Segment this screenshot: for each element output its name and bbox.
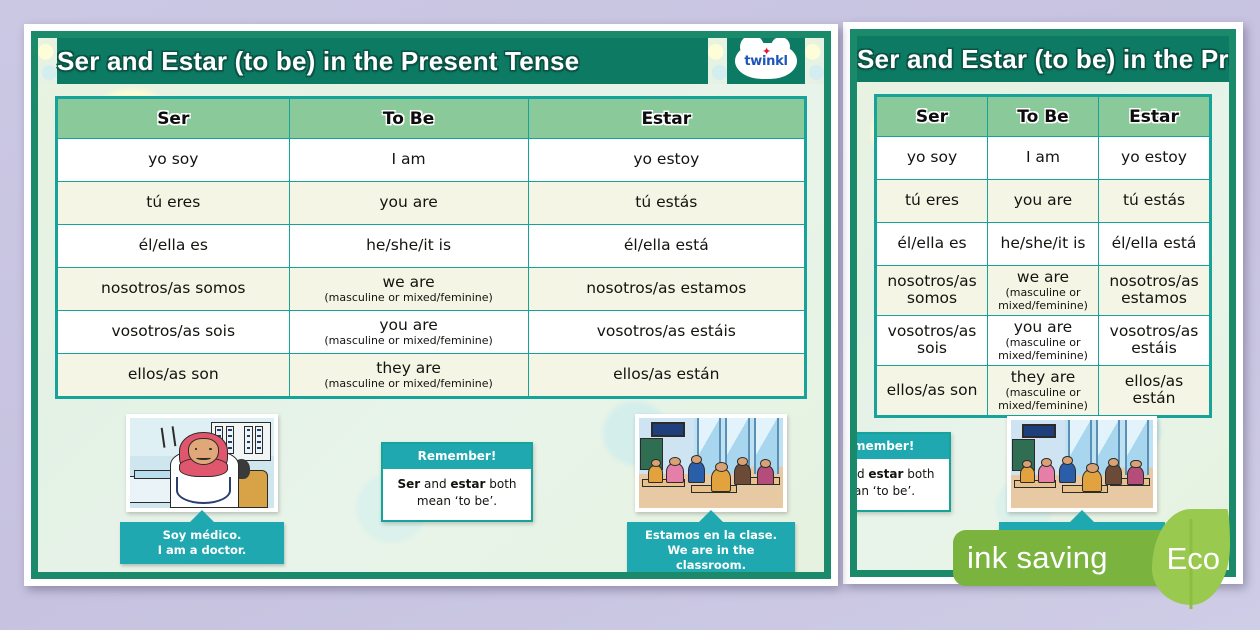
student-head (669, 457, 681, 466)
table-row: tú eres you are tú estás (58, 182, 805, 225)
student-head (760, 459, 772, 468)
conjugation-table-wrap: Ser To Be Estar yo soy I am yo estoy tú … (55, 96, 807, 399)
poster-page-back[interactable]: Ser and Estar (to be) in the Present Ten… (843, 22, 1243, 584)
cell-estar: nosotros/as estamos (528, 268, 804, 311)
remember-bold-ser: Ser (397, 477, 420, 491)
cell-tobe-main: you are (1014, 318, 1072, 336)
classroom-photo-card-back (1007, 416, 1157, 512)
cell-tobe-main: he/she/it is (366, 236, 451, 254)
cell-tobe: I am (988, 137, 1099, 180)
cell-ser: yo soy (58, 139, 290, 182)
cell-tobe: they are(masculine or mixed/feminine) (988, 365, 1099, 415)
remember-heading-back: Remember! (850, 434, 949, 459)
wall-screen-shape (651, 422, 686, 437)
table-row: él/ella es he/she/it is él/ella está (877, 223, 1210, 266)
cell-estar: vosotros/as estáis (528, 311, 804, 354)
remember-line2-back: mean ‘to be’. (850, 484, 915, 498)
table-row: vosotros/as sois you are(masculine or mi… (877, 315, 1210, 365)
poster-back-inner: Ser and Estar (to be) in the Present Ten… (850, 29, 1236, 577)
cell-estar: él/ella está (1099, 223, 1210, 266)
classroom-illustration (639, 418, 783, 508)
cell-tobe-main: they are (376, 359, 441, 377)
table-header-row: Ser To Be Estar (58, 99, 805, 139)
poster-front-inner: Ser and Estar (to be) in the Present Ten… (31, 31, 831, 579)
cell-tobe: you are (289, 182, 528, 225)
cell-estar: tú estás (1099, 180, 1210, 223)
doctor-caption-es: Soy médico. (128, 528, 276, 543)
cell-tobe-main: I am (1026, 148, 1060, 166)
cell-ser: tú eres (877, 180, 988, 223)
doctor-illustration (130, 418, 274, 508)
cell-tobe-note: (masculine or mixed/feminine) (295, 292, 523, 304)
col-header-tobe: To Be (289, 99, 528, 139)
classroom-photo-card (635, 414, 787, 512)
remember-box-back: Remember! Ser and estar both mean ‘to be… (850, 432, 951, 512)
title-notch-right (805, 38, 824, 84)
title-notch-mid (708, 38, 727, 84)
cell-ser: tú eres (58, 182, 290, 225)
cell-estar: nosotros/as estamos (1099, 266, 1210, 316)
poster-page-front[interactable]: Ser and Estar (to be) in the Present Ten… (24, 24, 838, 586)
remember-bold-estar: estar (450, 477, 485, 491)
student-shape (757, 465, 774, 485)
cell-ser: él/ella es (58, 225, 290, 268)
cell-tobe-main: we are (382, 273, 434, 291)
cell-tobe: you are(masculine or mixed/feminine) (289, 311, 528, 354)
title-notch-left (38, 38, 57, 84)
cell-estar: ellos/as están (1099, 365, 1210, 415)
poster-back-titlebar: Ser and Estar (to be) in the Present Ten… (857, 36, 1229, 82)
poster-titlebar: Ser and Estar (to be) in the Present Ten… (38, 38, 824, 84)
cell-estar: él/ella está (528, 225, 804, 268)
cell-ser: ellos/as son (58, 354, 290, 397)
eco-label: ink saving (953, 540, 1108, 576)
cell-ser: ellos/as son (877, 365, 988, 415)
twinkl-logo[interactable]: ✦ twinkl (727, 38, 805, 84)
poster-back-title: Ser and Estar (to be) in the Present Ten… (857, 44, 1236, 75)
student-shape (688, 461, 705, 483)
cell-estar: yo estoy (1099, 137, 1210, 180)
remember-line2: mean ‘to be’. (417, 494, 497, 508)
remember-mid: and (420, 477, 450, 491)
cell-tobe-main: he/she/it is (1001, 234, 1086, 252)
table-row: él/ella es he/she/it is él/ella está (58, 225, 805, 268)
cell-estar: ellos/as están (528, 354, 804, 397)
table-header-row-back: Ser To Be Estar (877, 97, 1210, 137)
conjugation-table-back: Ser To Be Estar yo soy I am yo estoy tú … (876, 96, 1210, 416)
doctor-caption-en: I am a doctor. (128, 543, 276, 558)
remember-end-back: both (903, 467, 934, 481)
col-header-tobe-back: To Be (988, 97, 1099, 137)
cloud-icon: ✦ twinkl (735, 43, 797, 79)
cell-tobe-main: you are (379, 316, 437, 334)
page-title: Ser and Estar (to be) in the Present Ten… (57, 46, 708, 77)
cell-tobe: he/she/it is (988, 223, 1099, 266)
student-head (737, 457, 749, 466)
remember-bold-estar-back: estar (868, 467, 903, 481)
cell-ser: nosotros/as somos (877, 266, 988, 316)
classroom-illustration-back (1011, 420, 1153, 508)
table-row: yo soy I am yo estoy (58, 139, 805, 182)
cell-tobe: we are(masculine or mixed/feminine) (289, 268, 528, 311)
doctor-face (188, 438, 220, 465)
cell-tobe-main: we are (1017, 268, 1069, 286)
cell-tobe-main: they are (1011, 368, 1076, 386)
student-shape (648, 465, 664, 483)
doctor-caption: Soy médico. I am a doctor. (120, 522, 284, 564)
cell-tobe-note: (masculine or mixed/feminine) (993, 287, 1093, 312)
table-row: vosotros/as sois you are(masculine or mi… (58, 311, 805, 354)
col-header-ser-back: Ser (877, 97, 988, 137)
table-row: ellos/as son they are(masculine or mixed… (58, 354, 805, 397)
conjugation-table-back-wrap: Ser To Be Estar yo soy I am yo estoy tú … (874, 94, 1212, 418)
cell-tobe: we are(masculine or mixed/feminine) (988, 266, 1099, 316)
cell-ser: yo soy (877, 137, 988, 180)
student-shape (734, 463, 751, 485)
screenshot-stage: Ser and Estar (to be) in the Present Ten… (0, 0, 1260, 630)
cell-tobe: they are(masculine or mixed/feminine) (289, 354, 528, 397)
ink-saving-eco-badge: ink saving Eco (953, 527, 1236, 589)
star-icon: ✦ (762, 47, 771, 58)
classroom-caption-es: Estamos en la clase. (635, 528, 787, 543)
cell-ser: vosotros/as sois (58, 311, 290, 354)
table-row: ellos/as son they are(masculine or mixed… (877, 365, 1210, 415)
table-row: nosotros/as somos we are(masculine or mi… (877, 266, 1210, 316)
cell-estar: tú estás (528, 182, 804, 225)
eco-word: Eco (1167, 541, 1220, 577)
col-header-estar-back: Estar (1099, 97, 1210, 137)
cell-tobe: I am (289, 139, 528, 182)
cell-tobe-note: (masculine or mixed/feminine) (295, 335, 523, 347)
cell-ser: vosotros/as sois (877, 315, 988, 365)
cell-tobe-main: I am (392, 150, 426, 168)
conjugation-table: Ser To Be Estar yo soy I am yo estoy tú … (57, 98, 805, 397)
table-row: yo soy I am yo estoy (877, 137, 1210, 180)
doctor-photo-card (126, 414, 278, 512)
remember-body-back: Ser and estar both mean ‘to be’. (850, 459, 949, 510)
cell-tobe: he/she/it is (289, 225, 528, 268)
cell-ser: él/ella es (877, 223, 988, 266)
remember-body: Ser and estar both mean ‘to be’. (383, 469, 531, 520)
cell-tobe: you are (988, 180, 1099, 223)
remember-box: Remember! Ser and estar both mean ‘to be… (381, 442, 533, 522)
cell-tobe-note: (masculine or mixed/feminine) (993, 387, 1093, 412)
remember-end: both (485, 477, 516, 491)
cell-tobe: you are(masculine or mixed/feminine) (988, 315, 1099, 365)
col-header-estar: Estar (528, 99, 804, 139)
student-shape (666, 463, 683, 483)
classroom-caption-en: We are in the classroom. (635, 543, 787, 573)
scissors-icon (160, 426, 176, 447)
cell-tobe-main: you are (1014, 191, 1072, 209)
table-row: nosotros/as somos we are(masculine or mi… (58, 268, 805, 311)
table-row: tú eres you are tú estás (877, 180, 1210, 223)
cell-ser: nosotros/as somos (58, 268, 290, 311)
remember-mid-back: and (850, 467, 868, 481)
cell-estar: vosotros/as estáis (1099, 315, 1210, 365)
cell-tobe-main: you are (379, 193, 437, 211)
classroom-caption: Estamos en la clase. We are in the class… (627, 522, 795, 579)
student-head (691, 455, 703, 464)
col-header-ser: Ser (58, 99, 290, 139)
cell-tobe-note: (masculine or mixed/feminine) (295, 378, 523, 390)
remember-heading: Remember! (383, 444, 531, 469)
poster-bottom-strip: Soy médico. I am a doctor. Remember! Ser… (38, 412, 824, 572)
cell-tobe-note: (masculine or mixed/feminine) (993, 337, 1093, 362)
cell-estar: yo estoy (528, 139, 804, 182)
